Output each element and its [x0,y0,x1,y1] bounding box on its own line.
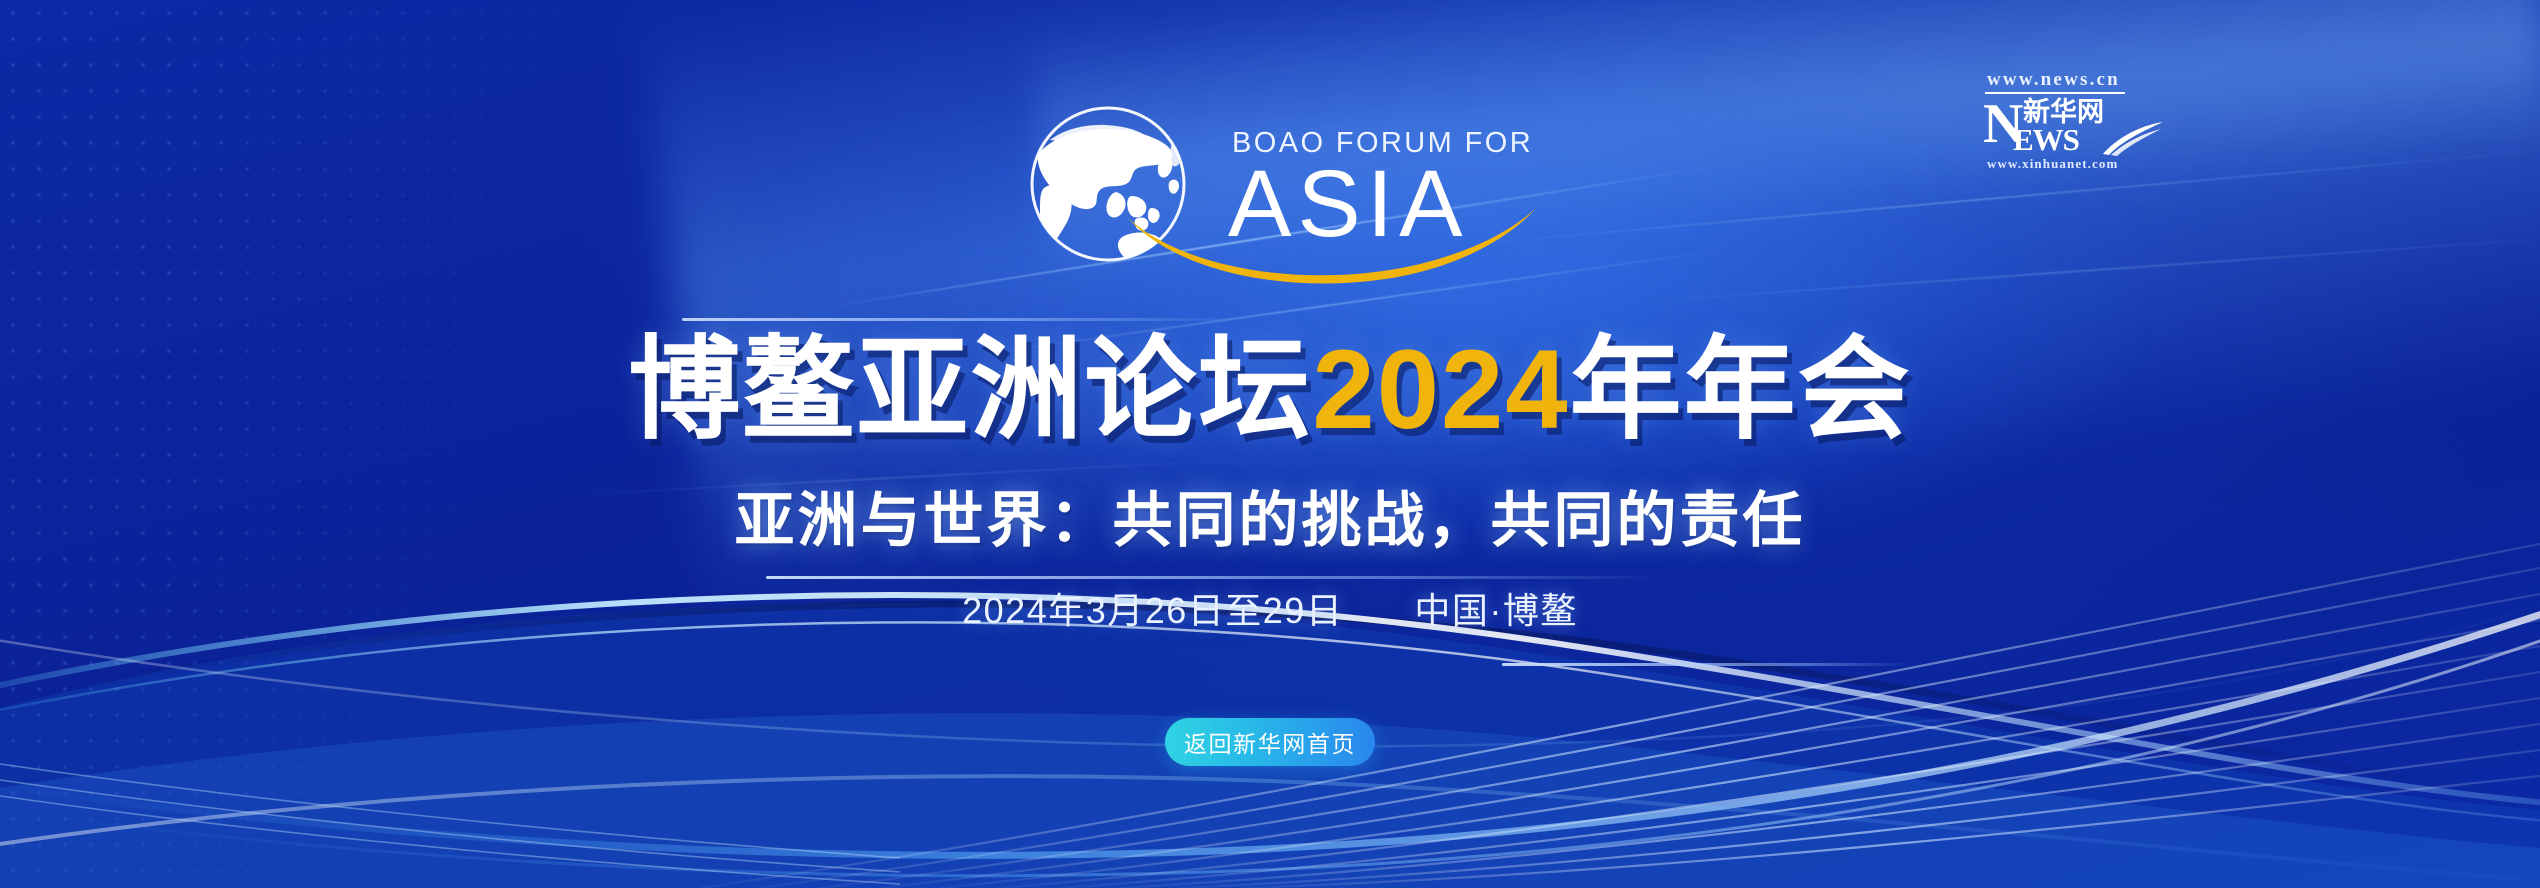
page-title: 博鳌亚洲论坛2024年年会 [0,324,2540,456]
event-date: 2024年3月26日至29日 [962,590,1343,631]
title-year: 2024 [1312,327,1569,452]
page-subtitle: 亚洲与世界：共同的挑战，共同的责任 [0,472,2540,559]
xinhua-bottom-url: www.xinhuanet.com [1977,157,2167,170]
divider-line-top [682,318,1242,321]
event-location: 中国·博鳌 [1414,590,1578,631]
white-swoosh-icon [2101,120,2165,156]
boao-logo-line2: ASIA [1228,151,1469,257]
title-suffix: 年年会 [1570,327,1912,452]
divider-line-middle [766,576,1656,579]
boao-forum-for-asia-logo: BOAO FORUM FOR ASIA [1020,96,1540,286]
xinhua-top-url: www.news.cn [1977,70,2167,89]
divider-line-bottom [1502,663,1912,666]
banner-stage: BOAO FORUM FOR ASIA www.news.cn N 新华网 EW… [0,0,2540,888]
xinhua-letters-ews: EWS [2013,124,2079,155]
event-meta: 2024年3月26日至29日 中国·博鳌 [0,582,2540,634]
xinhua-wordmark: N 新华网 EWS [1977,96,2167,154]
title-prefix: 博鳌亚洲论坛 [628,327,1312,452]
back-to-xinhua-home-button[interactable]: 返回新华网首页 [1165,718,1375,766]
xinhua-news-logo[interactable]: www.news.cn N 新华网 EWS www.xinhuanet.com [1977,70,2167,176]
